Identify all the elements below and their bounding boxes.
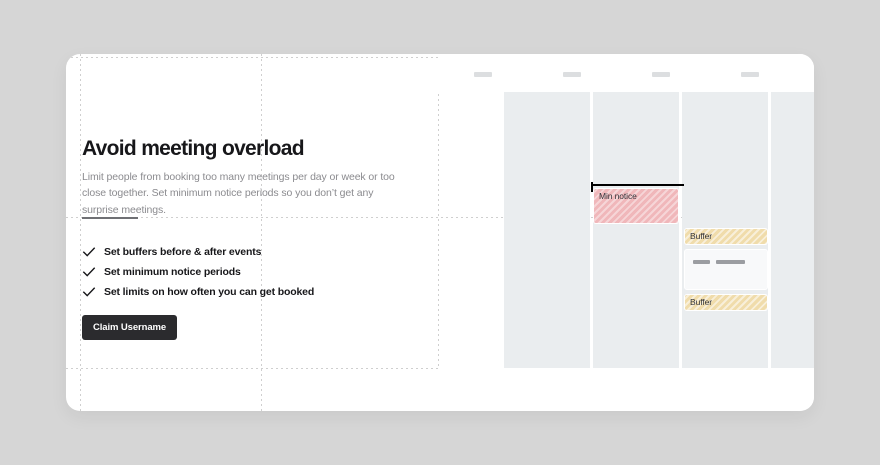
calendar-day-header-placeholder [741,72,759,77]
page-subtitle: Limit people from booking too many meeti… [82,169,412,218]
event-label: Buffer [690,231,712,241]
calendar-preview: Min notice Buffer Buffer [438,54,814,411]
feature-label: Set limits on how often you can get book… [104,286,314,298]
marketing-pane: Avoid meeting overload Limit people from… [66,54,438,411]
feature-label: Set buffers before & after events [104,246,261,258]
calendar-day-header-placeholder [652,72,670,77]
calendar-event-booked[interactable] [684,249,768,290]
calendar-event-buffer-before[interactable]: Buffer [684,228,768,245]
event-label: Min notice [599,191,637,201]
claim-username-button[interactable]: Claim Username [82,315,177,340]
check-icon [82,285,96,299]
check-icon [82,265,96,279]
event-placeholder-bar [716,260,745,264]
calendar-event-buffer-after[interactable]: Buffer [684,294,768,311]
calendar-column-1[interactable] [504,92,590,368]
calendar-day-header-placeholder [474,72,492,77]
calendar-event-min-notice[interactable]: Min notice [593,188,679,224]
feature-list: Set buffers before & after events Set mi… [82,242,314,302]
list-item: Set minimum notice periods [82,262,314,282]
check-icon [82,245,96,259]
calendar-day-header-placeholder [563,72,581,77]
calendar-column-2[interactable] [593,92,679,368]
calendar-header [438,54,814,92]
feature-label: Set minimum notice periods [104,266,241,278]
min-notice-measure-rule [591,184,684,186]
calendar-grid: Min notice Buffer Buffer [438,92,814,368]
calendar-footer [438,368,814,411]
event-placeholder-bar [693,260,710,264]
page-title: Avoid meeting overload [82,137,304,161]
screenshot-viewport: Avoid meeting overload Limit people from… [0,0,880,465]
feature-card: Avoid meeting overload Limit people from… [66,54,814,411]
event-label: Buffer [690,297,712,307]
list-item: Set buffers before & after events [82,242,314,262]
list-item: Set limits on how often you can get book… [82,282,314,302]
section-divider [82,217,138,219]
calendar-column-4[interactable] [771,92,814,368]
